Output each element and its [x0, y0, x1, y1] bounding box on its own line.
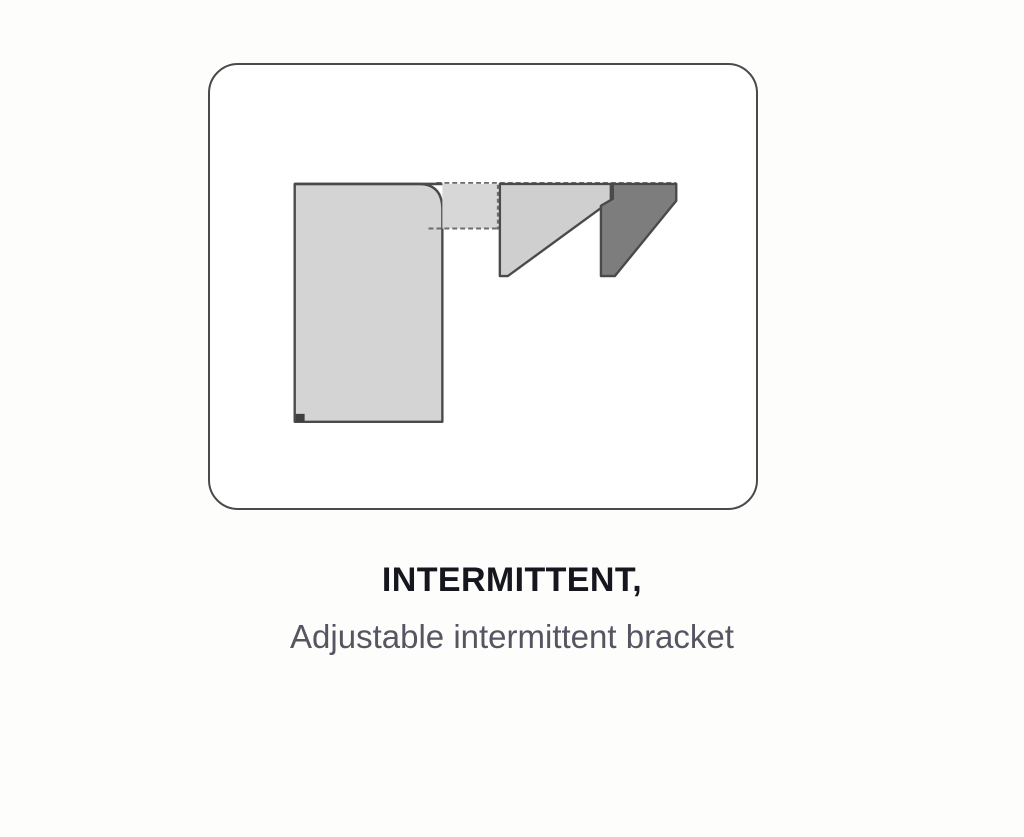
caption-block: INTERMITTENT, Adjustable intermittent br…	[0, 560, 1024, 659]
product-title: INTERMITTENT,	[0, 560, 1024, 601]
upper-web-segment	[442, 184, 497, 229]
panel-corner-tick-mark	[296, 414, 305, 422]
product-card-root: INTERMITTENT, Adjustable intermittent br…	[0, 0, 1024, 837]
vertical-face-panel	[295, 184, 443, 422]
horizontal-wing-wedge	[500, 184, 611, 276]
product-image-card[interactable]	[208, 63, 758, 510]
intermittent-bracket-diagram	[210, 65, 756, 508]
product-subtitle: Adjustable intermittent bracket	[202, 615, 822, 659]
adjustable-tongue	[601, 184, 676, 276]
